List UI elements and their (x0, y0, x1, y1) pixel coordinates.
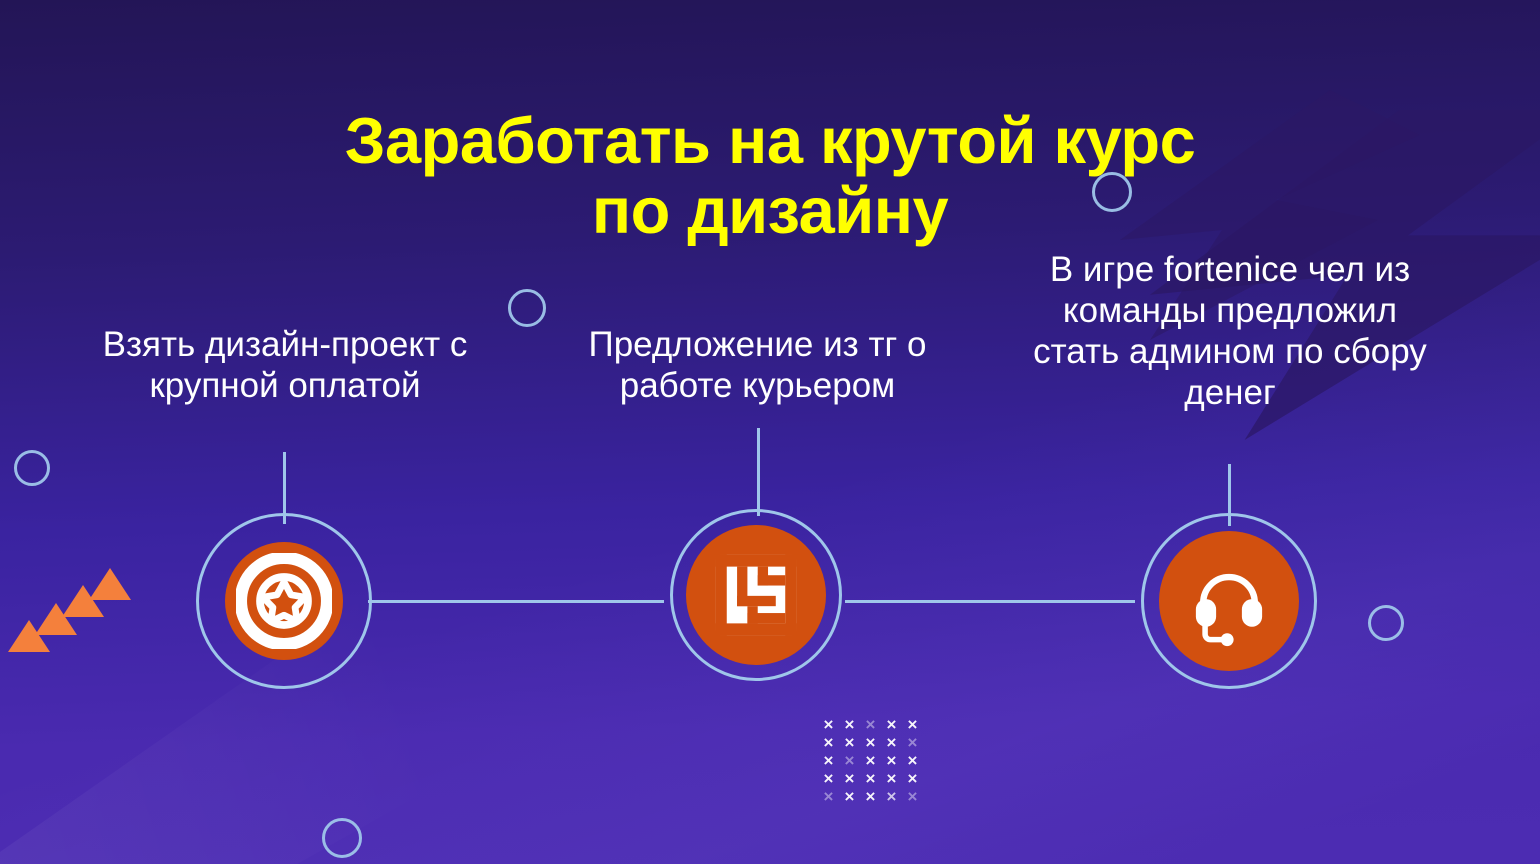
circle-mid-left (508, 289, 546, 327)
x-mark: × (881, 734, 902, 752)
x-mark: × (902, 770, 923, 788)
slide-canvas: × × × × × × × × × × × × × × × × × × × × … (0, 0, 1540, 864)
timeline-node-3[interactable] (1141, 513, 1317, 689)
timeline-node-1[interactable] (196, 513, 372, 689)
step-label-2: Предложение из тг о работе курьером (555, 325, 960, 407)
x-mark: × (881, 716, 902, 734)
x-mark-grid: × × × × × × × × × × × × × × × × × × × × … (818, 716, 923, 806)
step-label-3: В игре fortenice чел из команды предложи… (1030, 250, 1430, 414)
node-icon-disc (686, 525, 826, 665)
x-mark: × (818, 770, 839, 788)
x-mark: × (839, 788, 860, 806)
x-mark: × (818, 788, 839, 806)
node-icon-disc (1159, 531, 1299, 671)
x-mark: × (902, 716, 923, 734)
x-mark: × (818, 734, 839, 752)
x-mark: × (839, 770, 860, 788)
x-mark: × (818, 716, 839, 734)
x-mark: × (818, 752, 839, 770)
x-mark: × (881, 752, 902, 770)
maze-icon (713, 552, 799, 638)
target-star-icon (236, 553, 332, 649)
node-icon-disc (225, 542, 343, 660)
x-mark: × (860, 788, 881, 806)
x-mark: × (839, 716, 860, 734)
timeline-connector (368, 600, 664, 603)
x-mark: × (860, 734, 881, 752)
timeline-node-2[interactable] (670, 509, 842, 681)
headset-icon (1183, 555, 1275, 647)
x-mark: × (902, 752, 923, 770)
triangle-decoration (89, 568, 131, 600)
title-line-2: по дизайну (0, 176, 1540, 246)
x-mark: × (860, 770, 881, 788)
x-mark: × (860, 716, 881, 734)
page-title: Заработать на крутой курс по дизайну (0, 106, 1540, 246)
title-line-1: Заработать на крутой курс (345, 104, 1195, 177)
circle-far-right (1368, 605, 1404, 641)
x-mark: × (839, 734, 860, 752)
circle-far-left (14, 450, 50, 486)
timeline-connector (845, 600, 1135, 603)
circle-bottom-left (322, 818, 362, 858)
step-label-1: Взять дизайн-проект с крупной оплатой (95, 325, 475, 407)
x-mark: × (881, 770, 902, 788)
label-stem (757, 428, 760, 516)
x-mark: × (860, 752, 881, 770)
x-mark: × (881, 788, 902, 806)
x-mark: × (902, 788, 923, 806)
x-mark: × (902, 734, 923, 752)
x-mark: × (839, 752, 860, 770)
